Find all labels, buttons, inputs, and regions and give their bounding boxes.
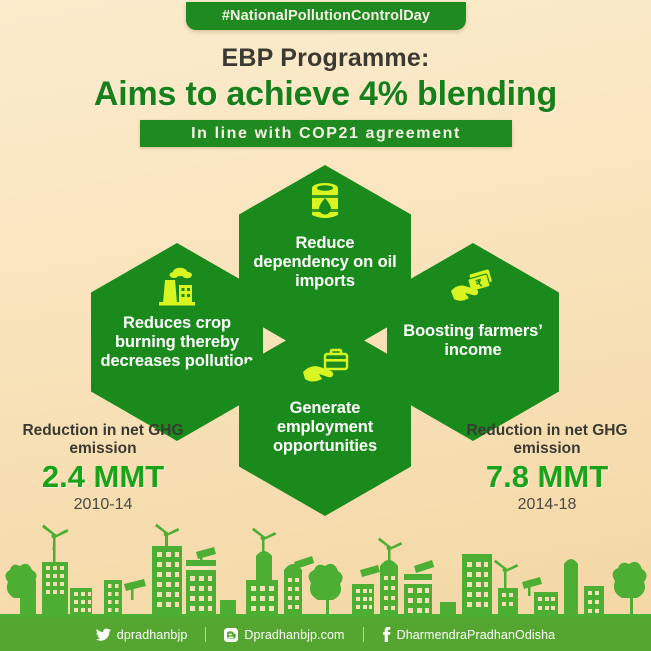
blogger-handle: Dpradhanbjp.com xyxy=(244,628,344,642)
hexagon-boosting-farmers-income[interactable]: ₹ Boosting farmers’ income xyxy=(387,243,559,441)
stat-left-label: Reduction in net GHG emission xyxy=(8,422,198,458)
hexagon-right-label: Boosting farmers’ income xyxy=(387,322,559,360)
footer-item-blogger[interactable]: Dpradhanbjp.com xyxy=(206,628,362,642)
infographic-poster: #NationalPollutionControlDay EBP Program… xyxy=(0,0,651,651)
hexagon-left-label: Reduces crop burning thereby decreases p… xyxy=(91,314,263,371)
stat-right-label: Reduction in net GHG emission xyxy=(452,422,642,458)
footer-item-twitter[interactable]: dpradhanbjp xyxy=(78,628,206,642)
city-skyline-illustration xyxy=(0,488,651,618)
footer-item-facebook[interactable]: DharmendraPradhanOdisha xyxy=(364,627,574,642)
facebook-icon xyxy=(382,627,391,642)
facebook-handle: DharmendraPradhanOdisha xyxy=(397,628,556,642)
heading-kicker: EBP Programme: xyxy=(0,44,651,73)
hashtag-banner: #NationalPollutionControlDay xyxy=(186,2,466,30)
hashtag-text: #NationalPollutionControlDay xyxy=(222,8,430,24)
cop21-banner: In line with COP21 agreement xyxy=(140,120,512,147)
blogger-icon xyxy=(224,628,238,642)
hexagon-bottom-label: Generate employment opportunities xyxy=(239,399,411,456)
heading-main: Aims to achieve 4% blending xyxy=(0,75,651,114)
twitter-handle: dpradhanbjp xyxy=(117,628,188,642)
hexagon-top-label: Reduce dependency on oil imports xyxy=(239,234,411,291)
factory-icon xyxy=(153,267,201,312)
hexagon-generate-employment[interactable]: Generate employment opportunities xyxy=(239,318,411,516)
money-hand-icon: ₹ xyxy=(447,269,499,314)
social-footer-bar: dpradhanbjp Dpradhanbjp.com DharmendraPr… xyxy=(0,618,651,651)
cop21-text: In line with COP21 agreement xyxy=(191,125,461,143)
briefcase-hand-icon xyxy=(297,346,353,391)
hexagon-reduce-crop-burning[interactable]: Reduces crop burning thereby decreases p… xyxy=(91,243,263,441)
oil-barrel-icon xyxy=(305,181,345,228)
twitter-icon xyxy=(96,628,111,641)
